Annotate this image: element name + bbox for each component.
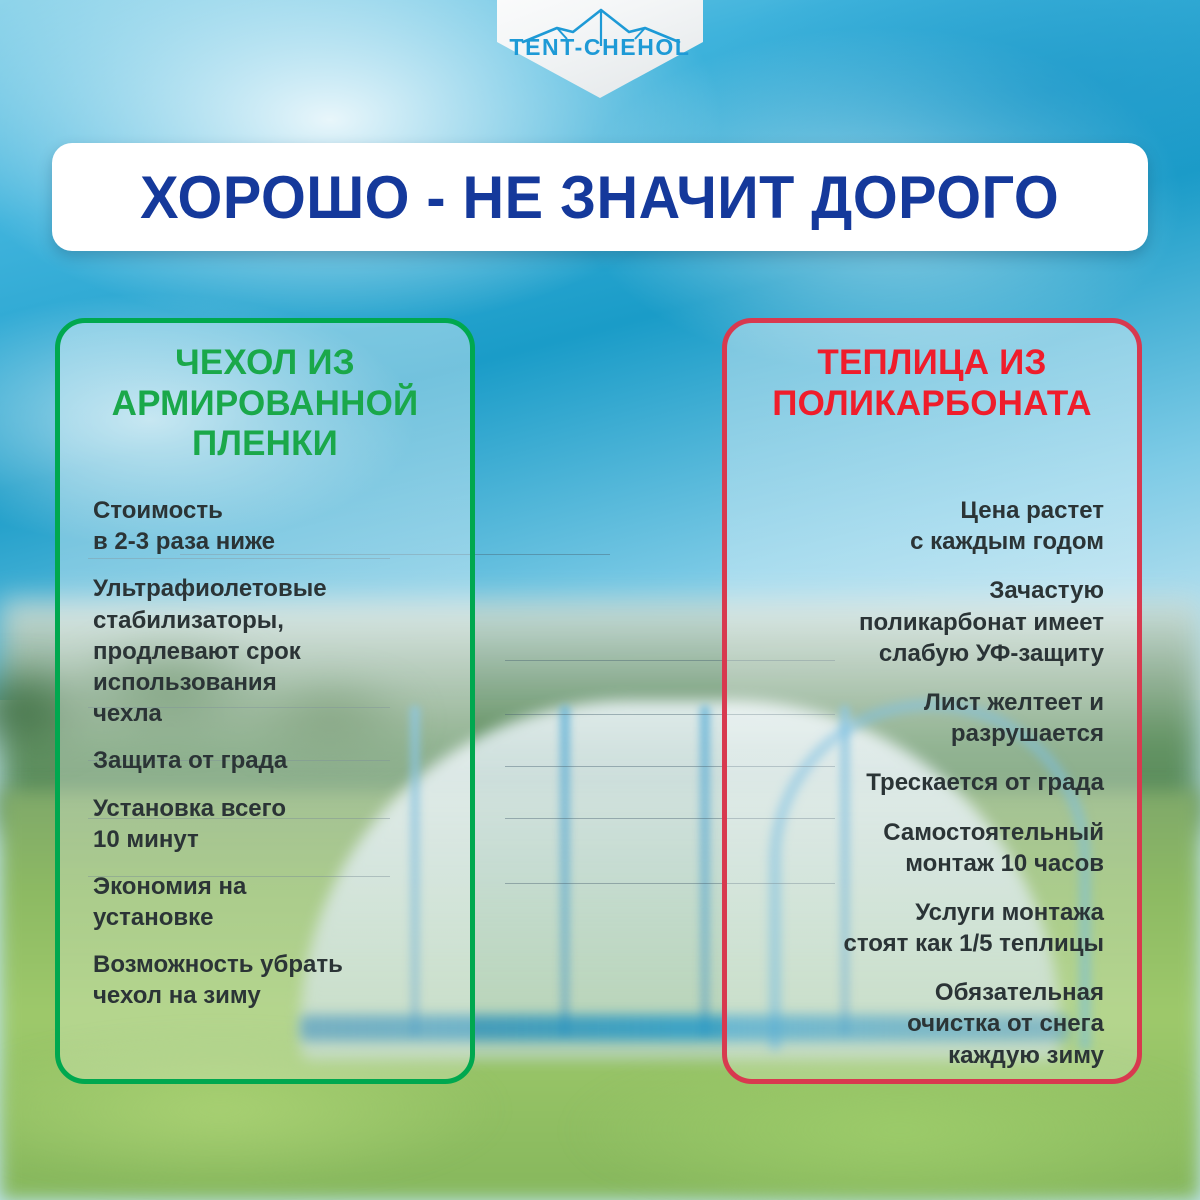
list-item: Стоимостьв 2-3 раза ниже bbox=[93, 495, 460, 557]
panel-left-item-list: Стоимостьв 2-3 раза ниже Ультрафиолетовы… bbox=[60, 495, 470, 1012]
list-item: Лист желтеет иразрушается bbox=[737, 687, 1104, 749]
panel-film-cover: ЧЕХОЛ ИЗ АРМИРОВАННОЙ ПЛЕНКИ Стоимостьв … bbox=[55, 318, 475, 1084]
list-item: Возможность убратьчехол на зиму bbox=[93, 949, 460, 1011]
list-item: Обязательнаяочистка от снегакаждую зиму bbox=[737, 977, 1104, 1071]
list-item: Ультрафиолетовыестабилизаторы,продлевают… bbox=[93, 573, 460, 729]
list-item: Цена растетс каждым годом bbox=[737, 495, 1104, 557]
list-item: Экономия наустановке bbox=[93, 871, 460, 933]
list-item: Установка всего10 минут bbox=[93, 793, 460, 855]
panel-left-heading: ЧЕХОЛ ИЗ АРМИРОВАННОЙ ПЛЕНКИ bbox=[60, 343, 470, 465]
list-item: Трескается от града bbox=[737, 767, 1104, 798]
list-item: Зачастуюполикарбонат имеетслабую УФ-защи… bbox=[737, 575, 1104, 669]
infographic-canvas: TENT-CHEHOL ХОРОШО - НЕ ЗНАЧИТ ДОРОГО ЧЕ… bbox=[0, 0, 1200, 1200]
panel-right-heading: ТЕПЛИЦА ИЗ ПОЛИКАРБОНАТА bbox=[727, 343, 1137, 424]
list-item: Самостоятельныймонтаж 10 часов bbox=[737, 817, 1104, 879]
list-item: Защита от града bbox=[93, 745, 460, 776]
list-item: Услуги монтажастоят как 1/5 теплицы bbox=[737, 897, 1104, 959]
panel-polycarbonate-greenhouse: ТЕПЛИЦА ИЗ ПОЛИКАРБОНАТА Цена растетс ка… bbox=[722, 318, 1142, 1084]
panel-right-item-list: Цена растетс каждым годом Зачастуюполика… bbox=[727, 495, 1137, 1071]
